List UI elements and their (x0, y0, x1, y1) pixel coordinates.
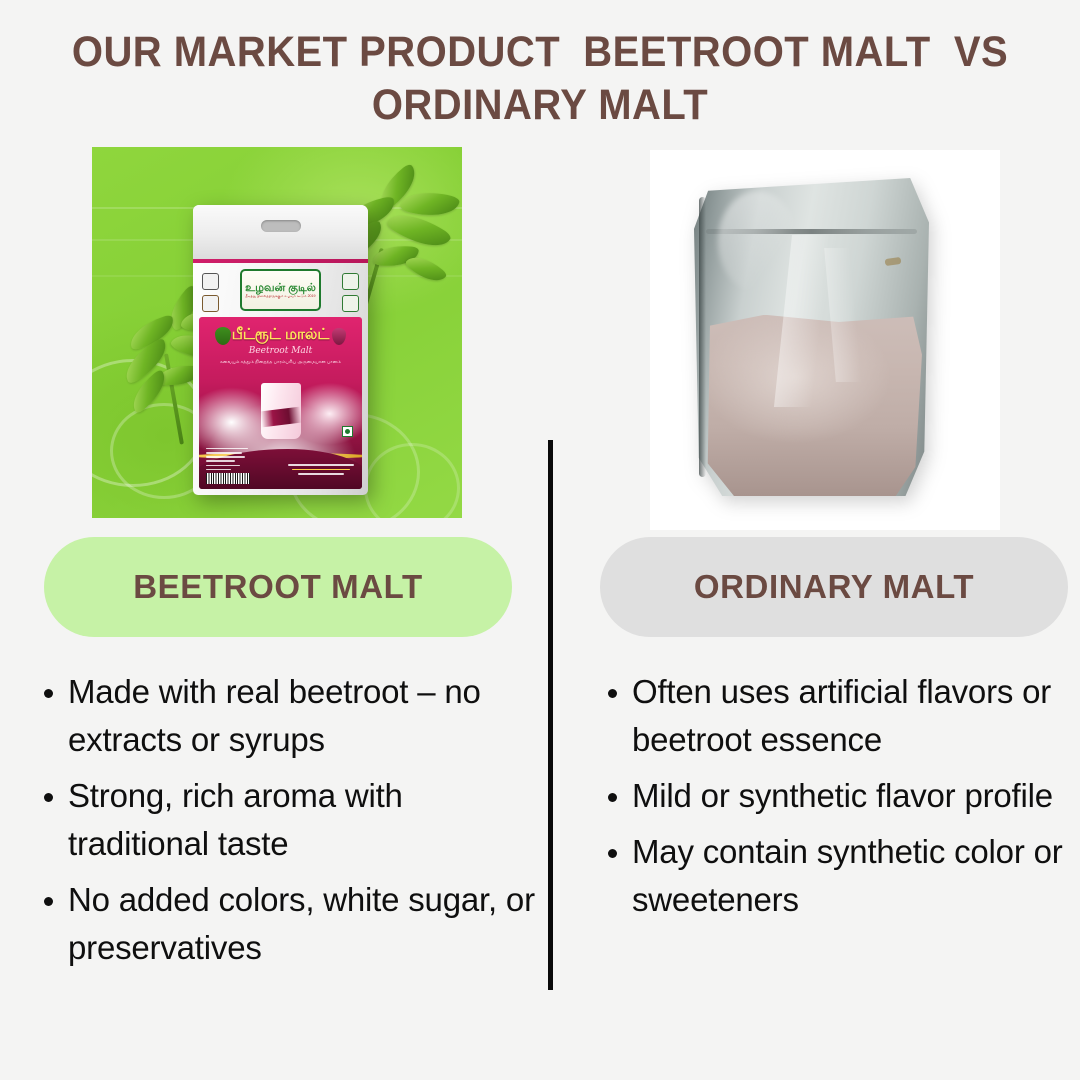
vegetarian-mark-icon (342, 426, 353, 437)
certification-mark-icon (202, 273, 219, 290)
glass-swirl-stripe (260, 407, 302, 428)
certification-mark-icon (202, 295, 219, 312)
list-item: No added colors, white sugar, or preserv… (30, 876, 542, 972)
label-pill-ordinary-malt: ORDINARY MALT (600, 537, 1068, 637)
brand-subline-tamil: நீடித்து நிலைத்திருக்கும் உழவர் கூடும் 2… (245, 294, 315, 299)
product-name-english: Beetroot Malt (199, 346, 362, 356)
product-image-beetroot-malt: உழவன் குடில் நீடித்து நிலைத்திருக்கும் உ… (92, 147, 462, 518)
pouch-side-edge (699, 197, 706, 477)
certification-mark-icon (342, 295, 359, 312)
manufacturer-text-block (288, 464, 354, 477)
list-item: Made with real beetroot – no extracts or… (30, 668, 542, 764)
list-item: Strong, rich aroma with traditional tast… (30, 772, 542, 868)
pouch-surface-mark (884, 256, 901, 265)
product-description-tamil: சுவையும் சத்தும் நிறைந்த பாரம்பரிய அருமை… (199, 359, 362, 365)
barcode (206, 473, 250, 484)
product-name-tamil: பீட்ரூட் மால்ட் (199, 326, 362, 345)
list-item: Mild or synthetic flavor profile (594, 772, 1080, 820)
product-image-ordinary-malt (650, 150, 1000, 530)
pouch-accent-band (193, 259, 368, 263)
page-title-line-2: ORDINARY MALT (38, 79, 1042, 132)
certification-mark-icon (342, 273, 359, 290)
column-divider (548, 440, 553, 990)
milk-glass-graphic (261, 383, 301, 439)
feature-list-ordinary-malt: Often uses artificial flavors or beetroo… (594, 668, 1080, 932)
page-title: OUR MARKET PRODUCT BEETROOT MALT VS ORDI… (0, 26, 1080, 132)
nutrition-text-block (206, 448, 248, 473)
pouch-top-seal (193, 205, 368, 259)
brand-logo-plate: உழவன் குடில் நீடித்து நிலைத்திருக்கும் உ… (240, 269, 321, 311)
label-pill-beetroot-malt: BEETROOT MALT (44, 537, 512, 637)
pouch-hang-hole (261, 220, 301, 232)
list-item: Often uses artificial flavors or beetroo… (594, 668, 1080, 764)
ordinary-malt-pouch (694, 178, 929, 496)
page-title-line-1: OUR MARKET PRODUCT BEETROOT MALT VS (38, 26, 1042, 79)
beetroot-malt-pouch: உழவன் குடில் நீடித்து நிலைத்திருக்கும் உ… (193, 205, 368, 495)
pouch-front-label: பீட்ரூட் மால்ட் Beetroot Malt சுவையும் ச… (199, 317, 362, 489)
feature-list-beetroot-malt: Made with real beetroot – no extracts or… (30, 668, 542, 980)
label-pill-text: ORDINARY MALT (694, 568, 974, 606)
label-pill-text: BEETROOT MALT (133, 568, 423, 606)
pouch-gloss-highlight (718, 191, 798, 293)
brand-name-tamil: உழவன் குடில் (245, 282, 316, 294)
list-item: May contain synthetic color or sweetener… (594, 828, 1080, 924)
